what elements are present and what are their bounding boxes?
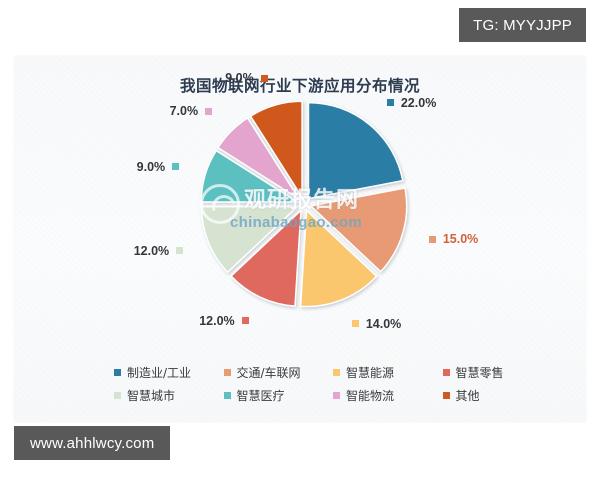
pie-data-label-text: 15.0% — [443, 232, 478, 246]
legend-swatch — [333, 369, 340, 376]
legend-item[interactable]: 智能物流 — [333, 385, 437, 406]
pie-data-label-swatch — [172, 163, 179, 170]
legend-item-label: 智慧能源 — [346, 364, 394, 381]
pie-data-label-swatch — [242, 317, 249, 324]
legend-item-label: 智慧零售 — [456, 364, 504, 381]
legend-swatch — [443, 369, 450, 376]
pie-data-label-text: 9.0% — [137, 160, 166, 174]
legend-swatch — [224, 392, 231, 399]
pie-chart — [189, 92, 419, 324]
pie-data-label-text: 12.0% — [134, 244, 169, 258]
legend-item-label: 智慧医疗 — [237, 387, 285, 404]
telegram-watermark-banner: TG: MYYJJPP — [459, 8, 586, 42]
legend-swatch — [224, 369, 231, 376]
legend-item-label: 智能物流 — [346, 387, 394, 404]
pie-data-label: 12.0% — [134, 244, 183, 258]
pie-data-label: 9.0% — [137, 160, 180, 174]
pie-data-label: 7.0% — [170, 104, 213, 118]
legend-item[interactable]: 其他 — [443, 385, 547, 406]
pie-data-label: 22.0% — [387, 96, 436, 110]
chart-card: 我国物联网行业下游应用分布情况 观研报告网 chinabaogao.com 22… — [14, 56, 586, 422]
pie-slice[interactable] — [308, 103, 402, 199]
legend-item[interactable]: 智慧零售 — [443, 362, 547, 383]
chart-legend: 制造业/工业交通/车联网智慧能源智慧零售智慧城市智慧医疗智能物流其他 — [114, 362, 546, 406]
pie-data-label-swatch — [387, 99, 394, 106]
site-url-watermark-banner: www.ahhlwcy.com — [14, 426, 170, 460]
screenshot-root: TG: MYYJJPP 我国物联网行业下游应用分布情况 观研报告网 chinab… — [0, 0, 600, 480]
pie-data-label: 15.0% — [429, 232, 478, 246]
pie-data-label-text: 12.0% — [199, 314, 234, 328]
telegram-watermark-text: TG: MYYJJPP — [473, 17, 572, 34]
legend-item[interactable]: 制造业/工业 — [114, 362, 218, 383]
pie-data-label: 12.0% — [199, 314, 248, 328]
pie-chart-svg — [189, 92, 419, 324]
legend-item-label: 其他 — [456, 387, 480, 404]
pie-data-label-swatch — [429, 236, 436, 243]
pie-data-label: 14.0% — [352, 317, 401, 331]
pie-data-label: 9.0% — [225, 71, 268, 85]
legend-swatch — [114, 369, 121, 376]
pie-data-label-text: 14.0% — [366, 317, 401, 331]
pie-data-label-swatch — [352, 320, 359, 327]
pie-data-label-text: 22.0% — [401, 96, 436, 110]
legend-item-label: 智慧城市 — [127, 387, 175, 404]
pie-data-label-swatch — [261, 75, 268, 82]
legend-item[interactable]: 智慧城市 — [114, 385, 218, 406]
legend-item[interactable]: 智慧医疗 — [224, 385, 328, 406]
legend-swatch — [114, 392, 121, 399]
pie-slices — [201, 101, 406, 306]
site-url-watermark-text: www.ahhlwcy.com — [30, 435, 154, 452]
legend-swatch — [443, 392, 450, 399]
legend-item-label: 交通/车联网 — [237, 364, 301, 381]
pie-data-label-text: 7.0% — [170, 104, 199, 118]
pie-data-label-text: 9.0% — [225, 71, 254, 85]
pie-data-label-swatch — [176, 247, 183, 254]
pie-data-label-swatch — [205, 108, 212, 115]
legend-item[interactable]: 智慧能源 — [333, 362, 437, 383]
legend-item[interactable]: 交通/车联网 — [224, 362, 328, 383]
legend-swatch — [333, 392, 340, 399]
legend-item-label: 制造业/工业 — [127, 364, 191, 381]
